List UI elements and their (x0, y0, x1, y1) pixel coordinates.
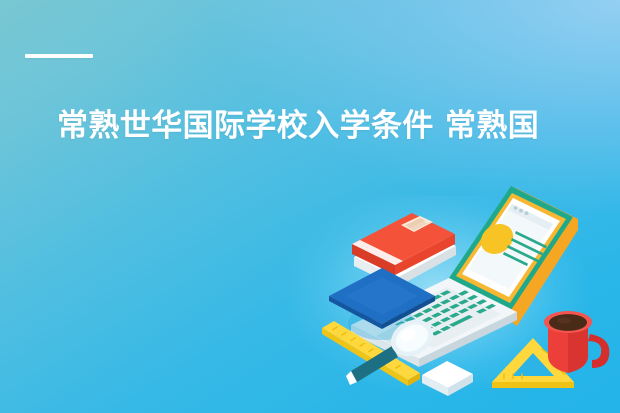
article-banner: 常熟世华国际学校入学条件 常熟国 (0, 0, 620, 413)
education-desk-illustration (316, 186, 620, 413)
coffee-mug-icon (544, 311, 609, 373)
page-title: 常熟世华国际学校入学条件 常熟国 (57, 106, 617, 146)
eraser-icon (422, 361, 473, 396)
accent-rule (25, 54, 93, 58)
